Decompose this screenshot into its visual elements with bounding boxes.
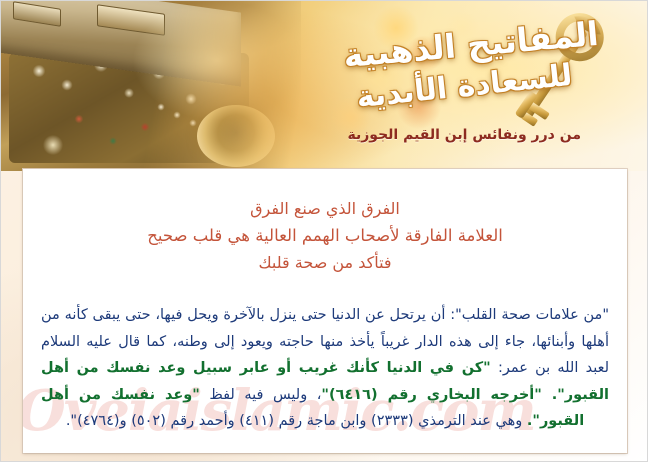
- body-paragraph: "من علامات صحة القلب": أن يرتحل عن الدني…: [41, 302, 609, 435]
- banner-title: المفاتيح الذهبية للسعادة الأبدية: [247, 15, 607, 123]
- headline-line-2: العلامة الفارقة لأصحاب الهمم العالية هي …: [41, 222, 609, 249]
- body-segment-blue: ، وليس فيه لفظ: [200, 387, 322, 403]
- header-banner: المفاتيح الذهبية للسعادة الأبدية من درر …: [1, 1, 648, 171]
- content-card: Oveiaislamic.com الفرق الذي صنع الفرق ال…: [23, 169, 627, 453]
- headline-line-3: فتأكد من صحة قلبك: [41, 249, 609, 276]
- body-segment-blue: وهي عند الترمذي (٢٣٣٣) وابن ماجة رقم (٤١…: [66, 413, 527, 429]
- headline-block: الفرق الذي صنع الفرق العلامة الفارقة لأص…: [23, 169, 627, 276]
- banner-subtitle: من درر ونفائس إبن القيم الجوزية: [348, 127, 582, 143]
- poster-page: المفاتيح الذهبية للسعادة الأبدية من درر …: [0, 0, 648, 462]
- headline-line-1: الفرق الذي صنع الفرق: [41, 195, 609, 222]
